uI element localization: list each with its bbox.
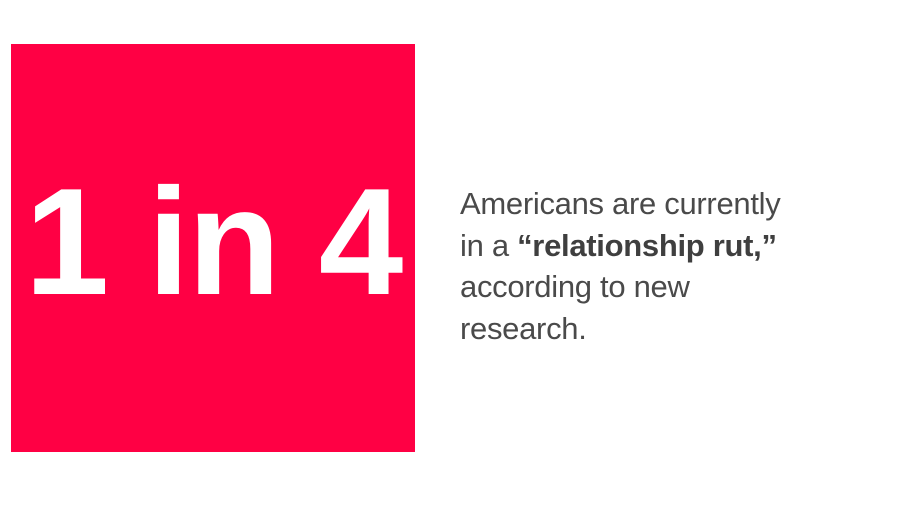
caption-line-2-emphasis: “relationship rut,”: [517, 228, 777, 263]
caption-line-1: Americans are currently: [460, 183, 860, 225]
caption-block: Americans are currently in a “relationsh…: [460, 183, 860, 349]
caption-line-4-text: research.: [460, 311, 587, 346]
caption-line-3-text: according to new: [460, 269, 690, 304]
caption-line-2-prefix: in a: [460, 228, 517, 263]
caption-line-3: according to new: [460, 266, 860, 308]
infographic-canvas: 1 in 4 Americans are currently in a “rel…: [0, 0, 900, 506]
statistic-block: 1 in 4: [11, 44, 415, 452]
caption-line-1-text: Americans are currently: [460, 186, 780, 221]
caption-line-4: research.: [460, 308, 860, 350]
statistic-value: 1 in 4: [25, 166, 402, 318]
caption-line-2: in a “relationship rut,”: [460, 225, 860, 267]
